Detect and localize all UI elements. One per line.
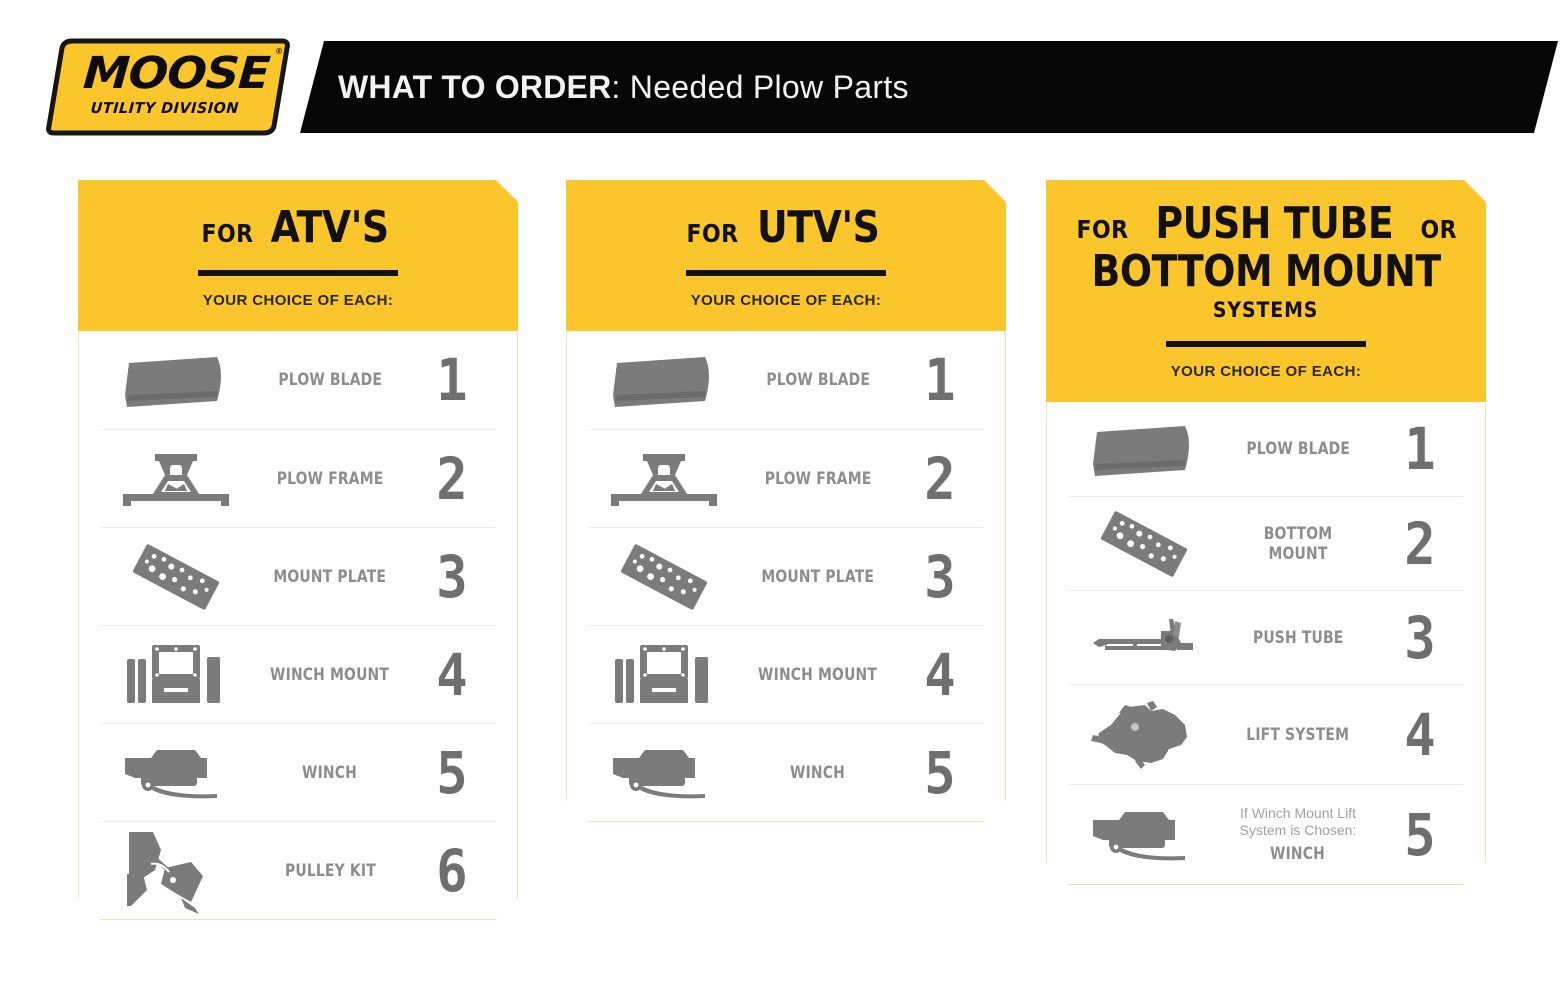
card-utv: FOR UTV'S YOUR CHOICE OF EACH: PLOW BLAD…	[566, 180, 1006, 822]
header-banner: WHAT TO ORDER: Needed Plow Parts	[300, 41, 1558, 133]
table-row[interactable]: PLOW BLADE 1	[589, 331, 983, 429]
row-label: PUSH TUBE	[1219, 628, 1377, 648]
row-label: WINCH MOUNT	[251, 665, 409, 685]
card-atv-title-main: ATV'S	[271, 206, 389, 250]
header-title-rest: : Needed Plow Parts	[611, 69, 908, 106]
table-row[interactable]: PLOW BLADE 1	[101, 331, 495, 429]
moose-logo: MOOSE UTILITY DIVISION ®	[46, 38, 290, 136]
row-number: 5	[1381, 806, 1458, 864]
bottom-mount-icon	[1069, 508, 1219, 580]
table-row[interactable]: PLOW FRAME 2	[589, 429, 983, 527]
card-push-divider	[1166, 341, 1366, 347]
table-row[interactable]: PLOW FRAME 2	[101, 429, 495, 527]
row-number: 6	[413, 842, 490, 900]
card-atv: FOR ATV'S YOUR CHOICE OF EACH: PLOW BLAD…	[78, 180, 518, 920]
table-row[interactable]: WINCH MOUNT 4	[101, 625, 495, 723]
row-label: PULLEY KIT	[251, 861, 409, 881]
plow-blade-icon	[1069, 420, 1219, 478]
card-atv-title: FOR ATV'S	[78, 206, 518, 250]
card-push-tube: FOR PUSH TUBE OR BOTTOM MOUNT SYSTEMS YO…	[1046, 180, 1486, 885]
winch-mount-icon	[101, 641, 251, 709]
row-number: 4	[413, 646, 490, 704]
card-push-title-line1: FOR PUSH TUBE OR	[1046, 202, 1486, 246]
row-number: 2	[1381, 515, 1458, 573]
row-label: LIFT SYSTEM	[1219, 725, 1377, 745]
row-note: If Winch Mount Lift System is Chosen:	[1219, 805, 1377, 839]
table-row[interactable]: PLOW BLADE 1	[1069, 402, 1463, 496]
card-atv-divider	[198, 270, 398, 276]
row-label: PLOW FRAME	[251, 469, 409, 489]
pulley-kit-icon	[101, 828, 251, 914]
row-label: WINCH	[739, 763, 897, 783]
mount-plate-icon	[589, 541, 739, 613]
card-atv-header: FOR ATV'S YOUR CHOICE OF EACH:	[78, 180, 518, 331]
plow-blade-icon	[101, 351, 251, 409]
row-label: PLOW BLADE	[739, 370, 897, 390]
table-row[interactable]: WINCH 5	[101, 723, 495, 821]
row-number: 1	[901, 351, 978, 409]
logo-tagline: UTILITY DIVISION	[63, 98, 266, 118]
card-utv-header: FOR UTV'S YOUR CHOICE OF EACH:	[566, 180, 1006, 331]
card-utv-body: PLOW BLADE 1 PLOW FRAME 2 MOUNT PLATE 3	[566, 331, 1006, 822]
table-row[interactable]: If Winch Mount Lift System is Chosen: WI…	[1069, 784, 1463, 884]
row-number: 5	[901, 744, 978, 802]
header-title: WHAT TO ORDER: Needed Plow Parts	[338, 41, 909, 133]
row-label: PLOW BLADE	[1219, 439, 1377, 459]
card-atv-body: PLOW BLADE 1 PLOW FRAME 2 MOUNT PLATE 3	[78, 331, 518, 920]
card-utv-title-main: UTV'S	[757, 206, 880, 250]
row-label: PLOW FRAME	[739, 469, 897, 489]
winch-icon	[589, 744, 739, 802]
card-push-title-for: FOR	[1076, 217, 1128, 242]
infographic-page: MOOSE UTILITY DIVISION ® WHAT TO ORDER: …	[0, 0, 1563, 1000]
winch-icon	[1069, 806, 1219, 864]
row-label: MOUNT PLATE	[739, 567, 897, 587]
card-push-title-main: PUSH TUBE	[1156, 202, 1394, 246]
table-row[interactable]: WINCH MOUNT 4	[589, 625, 983, 723]
card-push-subtitle: YOUR CHOICE OF EACH:	[1046, 363, 1486, 402]
row-number: 1	[1381, 420, 1458, 478]
logo-wordmark: MOOSE	[64, 51, 288, 97]
table-row[interactable]: MOUNT PLATE 3	[589, 527, 983, 625]
plow-blade-icon	[589, 351, 739, 409]
plow-frame-icon	[101, 448, 251, 510]
table-row[interactable]: PULLEY KIT 6	[101, 821, 495, 919]
table-row[interactable]: BOTTOM MOUNT 2	[1069, 496, 1463, 590]
mount-plate-icon	[101, 541, 251, 613]
winch-icon	[101, 744, 251, 802]
row-label: WINCH	[251, 763, 409, 783]
row-number: 3	[901, 548, 978, 606]
page-header: MOOSE UTILITY DIVISION ® WHAT TO ORDER: …	[0, 0, 1563, 150]
table-row[interactable]: LIFT SYSTEM 4	[1069, 684, 1463, 784]
push-tube-icon	[1069, 613, 1219, 663]
row-number: 3	[413, 548, 490, 606]
card-push-title-line3: SYSTEMS	[1046, 300, 1486, 321]
registered-trademark-icon: ®	[276, 47, 282, 56]
row-label: WINCH MOUNT	[739, 665, 897, 685]
row-number: 2	[901, 450, 978, 508]
card-utv-divider	[686, 270, 886, 276]
row-label: MOUNT PLATE	[251, 567, 409, 587]
card-utv-subtitle: YOUR CHOICE OF EACH:	[566, 292, 1006, 331]
row-number: 1	[413, 351, 490, 409]
header-title-strong: WHAT TO ORDER	[338, 69, 611, 106]
row-number: 2	[413, 450, 490, 508]
row-number: 3	[1381, 609, 1458, 667]
lift-system-icon	[1069, 699, 1219, 771]
card-atv-subtitle: YOUR CHOICE OF EACH:	[78, 292, 518, 331]
winch-mount-icon	[589, 641, 739, 709]
table-row[interactable]: PUSH TUBE 3	[1069, 590, 1463, 684]
card-push-title-or: OR	[1420, 217, 1457, 242]
table-row[interactable]: MOUNT PLATE 3	[101, 527, 495, 625]
card-atv-title-for: FOR	[201, 221, 253, 246]
row-label: If Winch Mount Lift System is Chosen: WI…	[1219, 805, 1377, 864]
card-utv-title-for: FOR	[687, 221, 739, 246]
plow-frame-icon	[589, 448, 739, 510]
card-push-body: PLOW BLADE 1 BOTTOM MOUNT 2 PUSH TUBE 3	[1046, 402, 1486, 885]
row-label: BOTTOM MOUNT	[1219, 524, 1377, 564]
row-label: PLOW BLADE	[251, 370, 409, 390]
row-number: 4	[1381, 706, 1458, 764]
card-utv-title: FOR UTV'S	[566, 206, 1006, 250]
card-push-header: FOR PUSH TUBE OR BOTTOM MOUNT SYSTEMS YO…	[1046, 180, 1486, 402]
card-push-title-line2: BOTTOM MOUNT	[1046, 250, 1486, 294]
row-number: 4	[901, 646, 978, 704]
row-number: 5	[413, 744, 490, 802]
table-row[interactable]: WINCH 5	[589, 723, 983, 821]
